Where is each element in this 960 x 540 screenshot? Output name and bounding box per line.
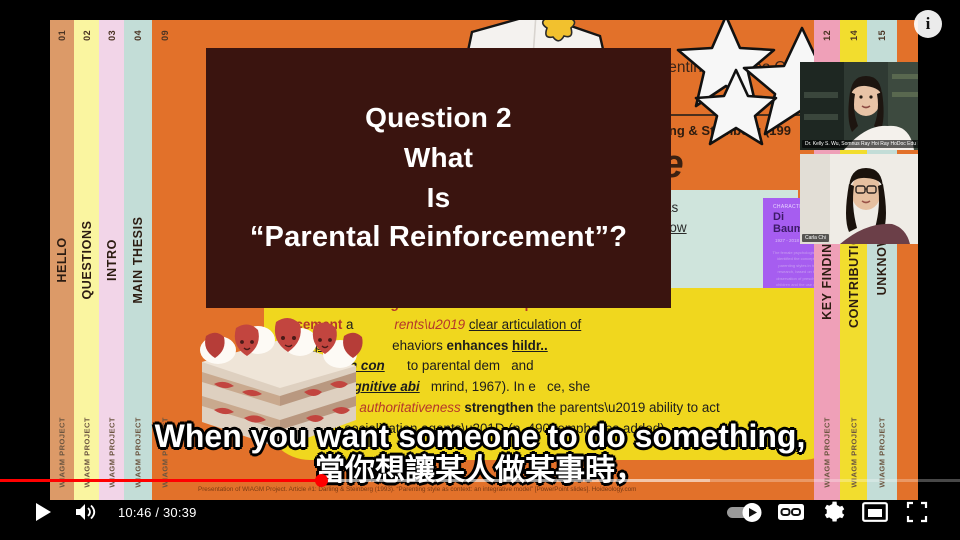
slide-title: Question 2 What Is “Parental Reinforceme… [206,98,671,258]
title-line-2: What [206,138,671,178]
tab-number: 02 [82,30,92,41]
tab-number: 09 [160,30,170,41]
closed-captions-button[interactable] [770,491,812,533]
progress-played [0,479,321,482]
tab-number: 12 [822,30,832,41]
tab-label: QUESTIONS [80,220,94,299]
webcam-tile-1[interactable]: Dr. Kelly S. Wu, Somnus Ray Hoi Ray HoDo… [800,62,918,150]
title-line-4: “Parental Reinforcement”? [206,217,671,258]
sidebar-tab-04: 04 MAIN THESIS WIAGM PROJECT [124,20,152,500]
tab-label: MAIN THESIS [131,216,145,303]
title-line-3: Is [206,178,671,218]
video-stage[interactable]: 01 HELLO WIAGM PROJECT 02 QUESTIONS WIAG… [22,20,938,520]
webcam-tile-2[interactable]: Carla Chi [800,154,918,244]
tab-number: 15 [877,30,887,41]
sidebar-tab-03: 03 INTRO WIAGM PROJECT [99,20,124,500]
player-controls: 10:46 / 30:39 [0,484,960,540]
video-player: 01 HELLO WIAGM PROJECT 02 QUESTIONS WIAG… [0,0,960,540]
tab-number: 03 [107,30,117,41]
slide-title-card: Question 2 What Is “Parental Reinforceme… [206,48,671,308]
star-stickers-decoration [674,20,814,157]
sidebar-tab-02: 02 QUESTIONS WIAGM PROJECT [74,20,99,500]
info-icon[interactable]: i [914,10,942,38]
presentation-slide: 01 HELLO WIAGM PROJECT 02 QUESTIONS WIAG… [50,20,918,500]
tab-label: HELLO [55,237,69,282]
tab-number: 14 [849,30,859,41]
title-line-1: Question 2 [206,98,671,138]
tab-number: 01 [57,30,67,41]
fullscreen-button[interactable] [896,491,938,533]
miniplayer-button[interactable] [854,491,896,533]
volume-button[interactable] [64,491,106,533]
progress-bar[interactable] [0,478,960,482]
sidebar-tab-09: 09 WIAGM PROJECT [152,20,178,500]
webcam-name-label: Carla Chi [802,234,829,242]
strawberry-cake-illustration [184,300,369,465]
card-subtitle: 1927 - 2018 [775,238,799,243]
card-name: DiBaum [773,212,804,235]
play-button[interactable] [22,491,64,533]
autoplay-toggle[interactable] [720,491,770,533]
time-display: 10:46 / 30:39 [118,505,197,520]
settings-gear-icon[interactable] [812,491,854,533]
sidebar-tab-01: 01 HELLO WIAGM PROJECT [50,20,74,500]
tab-number: 04 [133,30,143,41]
webcam-name-label: Dr. Kelly S. Wu, Somnus Ray Hoi Ray HoDo… [802,140,918,148]
tab-label: INTRO [105,239,119,281]
